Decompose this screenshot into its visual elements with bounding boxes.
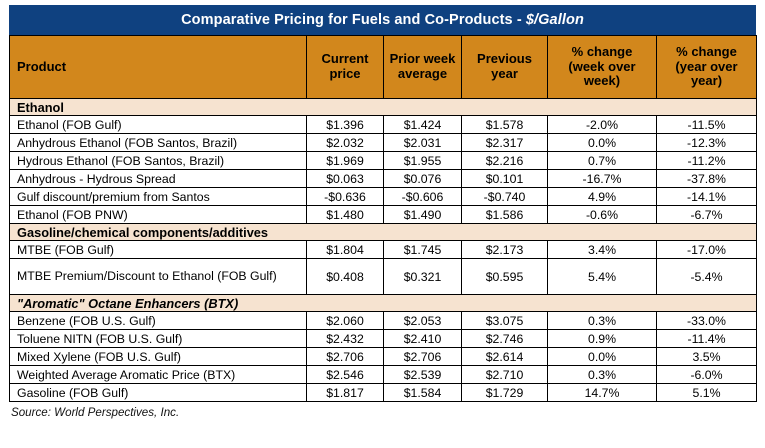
cell-pct-change-yoy: -37.8% [657,170,757,188]
cell-previous-year: $1.729 [462,384,548,402]
cell-pct-change-yoy: -17.0% [657,241,757,259]
table-row: Gulf discount/premium from Santos-$0.636… [10,188,757,206]
cell-pct-change-yoy: -11.2% [657,152,757,170]
cell-pct-change-wow: 0.3% [548,366,657,384]
cell-product-label: MTBE Premium/Discount to Ethanol (FOB Gu… [10,259,307,295]
cell-pct-change-yoy: 5.1% [657,384,757,402]
cell-pct-change-yoy: -6.7% [657,206,757,224]
cell-pct-change-wow: 14.7% [548,384,657,402]
cell-previous-year: $0.101 [462,170,548,188]
table-row: Anhydrous - Hydrous Spread$0.063$0.076$0… [10,170,757,188]
cell-current-price: $1.480 [307,206,384,224]
cell-current-price: $2.432 [307,330,384,348]
cell-prior-week-average: $0.076 [384,170,462,188]
cell-current-price: $0.063 [307,170,384,188]
cell-previous-year: $2.173 [462,241,548,259]
cell-pct-change-wow: 0.0% [548,348,657,366]
cell-prior-week-average: $2.706 [384,348,462,366]
column-header-prior-week-average: Prior week average [384,36,462,99]
cell-pct-change-yoy: -5.4% [657,259,757,295]
cell-product-label: Weighted Average Aromatic Price (BTX) [10,366,307,384]
section-header-label: Gasoline/chemical components/additives [10,224,757,241]
table-row: Hydrous Ethanol (FOB Santos, Brazil)$1.9… [10,152,757,170]
cell-prior-week-average: $1.584 [384,384,462,402]
cell-product-label: Gasoline (FOB Gulf) [10,384,307,402]
table-row: Gasoline (FOB Gulf)$1.817$1.584$1.72914.… [10,384,757,402]
cell-prior-week-average: $2.539 [384,366,462,384]
cell-previous-year: $2.710 [462,366,548,384]
section-header-row: Gasoline/chemical components/additives [10,224,757,241]
cell-current-price: $2.032 [307,134,384,152]
cell-pct-change-wow: 3.4% [548,241,657,259]
cell-prior-week-average: $2.053 [384,312,462,330]
cell-product-label: Ethanol (FOB PNW) [10,206,307,224]
cell-current-price: $2.706 [307,348,384,366]
cell-previous-year: $2.746 [462,330,548,348]
cell-previous-year: $1.586 [462,206,548,224]
pricing-table-page: Comparative Pricing for Fuels and Co-Pro… [0,0,765,448]
cell-product-label: Hydrous Ethanol (FOB Santos, Brazil) [10,152,307,170]
cell-previous-year: $2.317 [462,134,548,152]
cell-product-label: Toluene NITN (FOB U.S. Gulf) [10,330,307,348]
table-header: Product Current price Prior week average… [10,36,757,99]
cell-current-price: $1.817 [307,384,384,402]
cell-current-price: $1.969 [307,152,384,170]
cell-current-price: $0.408 [307,259,384,295]
section-header-label: Ethanol [10,99,757,116]
section-header-label: "Aromatic" Octane Enhancers (BTX) [10,295,757,312]
cell-pct-change-wow: -16.7% [548,170,657,188]
cell-pct-change-yoy: -11.5% [657,116,757,134]
table-row: Anhydrous Ethanol (FOB Santos, Brazil)$2… [10,134,757,152]
cell-product-label: Anhydrous Ethanol (FOB Santos, Brazil) [10,134,307,152]
cell-pct-change-yoy: 3.5% [657,348,757,366]
cell-previous-year: $3.075 [462,312,548,330]
cell-product-label: Anhydrous - Hydrous Spread [10,170,307,188]
cell-previous-year: $1.578 [462,116,548,134]
section-header-row: Ethanol [10,99,757,116]
cell-current-price: $2.060 [307,312,384,330]
cell-product-label: Mixed Xylene (FOB U.S. Gulf) [10,348,307,366]
cell-product-label: Benzene (FOB U.S. Gulf) [10,312,307,330]
cell-pct-change-wow: -2.0% [548,116,657,134]
column-header-pct-change-wow: % change (week over week) [548,36,657,99]
cell-pct-change-wow: 5.4% [548,259,657,295]
table-row: Weighted Average Aromatic Price (BTX)$2.… [10,366,757,384]
section-header-row: "Aromatic" Octane Enhancers (BTX) [10,295,757,312]
cell-pct-change-yoy: -11.4% [657,330,757,348]
cell-prior-week-average: $1.745 [384,241,462,259]
cell-product-label: Ethanol (FOB Gulf) [10,116,307,134]
table-row: Benzene (FOB U.S. Gulf)$2.060$2.053$3.07… [10,312,757,330]
table-title-unit: $/Gallon [526,12,584,28]
cell-prior-week-average: $1.490 [384,206,462,224]
cell-current-price: $2.546 [307,366,384,384]
cell-previous-year: $2.216 [462,152,548,170]
cell-pct-change-yoy: -6.0% [657,366,757,384]
cell-prior-week-average: $2.410 [384,330,462,348]
table-row: Ethanol (FOB Gulf)$1.396$1.424$1.578-2.0… [10,116,757,134]
cell-prior-week-average: $1.424 [384,116,462,134]
cell-pct-change-yoy: -12.3% [657,134,757,152]
cell-prior-week-average: -$0.606 [384,188,462,206]
cell-current-price: -$0.636 [307,188,384,206]
cell-current-price: $1.804 [307,241,384,259]
cell-current-price: $1.396 [307,116,384,134]
column-header-product: Product [10,36,307,99]
cell-previous-year: -$0.740 [462,188,548,206]
table-row: Toluene NITN (FOB U.S. Gulf)$2.432$2.410… [10,330,757,348]
cell-pct-change-yoy: -14.1% [657,188,757,206]
table-row: MTBE (FOB Gulf)$1.804$1.745$2.1733.4%-17… [10,241,757,259]
comparative-pricing-table: Product Current price Prior week average… [9,35,757,402]
cell-prior-week-average: $2.031 [384,134,462,152]
cell-pct-change-wow: 0.9% [548,330,657,348]
cell-previous-year: $0.595 [462,259,548,295]
column-header-pct-change-yoy: % change (year over year) [657,36,757,99]
cell-pct-change-wow: -0.6% [548,206,657,224]
source-note: Source: World Perspectives, Inc. [9,406,756,419]
cell-pct-change-wow: 0.3% [548,312,657,330]
cell-pct-change-wow: 4.9% [548,188,657,206]
cell-previous-year: $2.614 [462,348,548,366]
table-row: Mixed Xylene (FOB U.S. Gulf)$2.706$2.706… [10,348,757,366]
table-body: EthanolEthanol (FOB Gulf)$1.396$1.424$1.… [10,99,757,402]
table-title-text: Comparative Pricing for Fuels and Co-Pro… [181,12,526,28]
cell-prior-week-average: $1.955 [384,152,462,170]
cell-pct-change-yoy: -33.0% [657,312,757,330]
cell-prior-week-average: $0.321 [384,259,462,295]
cell-pct-change-wow: 0.7% [548,152,657,170]
table-row: MTBE Premium/Discount to Ethanol (FOB Gu… [10,259,757,295]
column-header-previous-year: Previous year [462,36,548,99]
table-row: Ethanol (FOB PNW)$1.480$1.490$1.586-0.6%… [10,206,757,224]
table-title-bar: Comparative Pricing for Fuels and Co-Pro… [9,5,756,35]
cell-pct-change-wow: 0.0% [548,134,657,152]
table-header-row: Product Current price Prior week average… [10,36,757,99]
cell-product-label: Gulf discount/premium from Santos [10,188,307,206]
cell-product-label: MTBE (FOB Gulf) [10,241,307,259]
column-header-current-price: Current price [307,36,384,99]
